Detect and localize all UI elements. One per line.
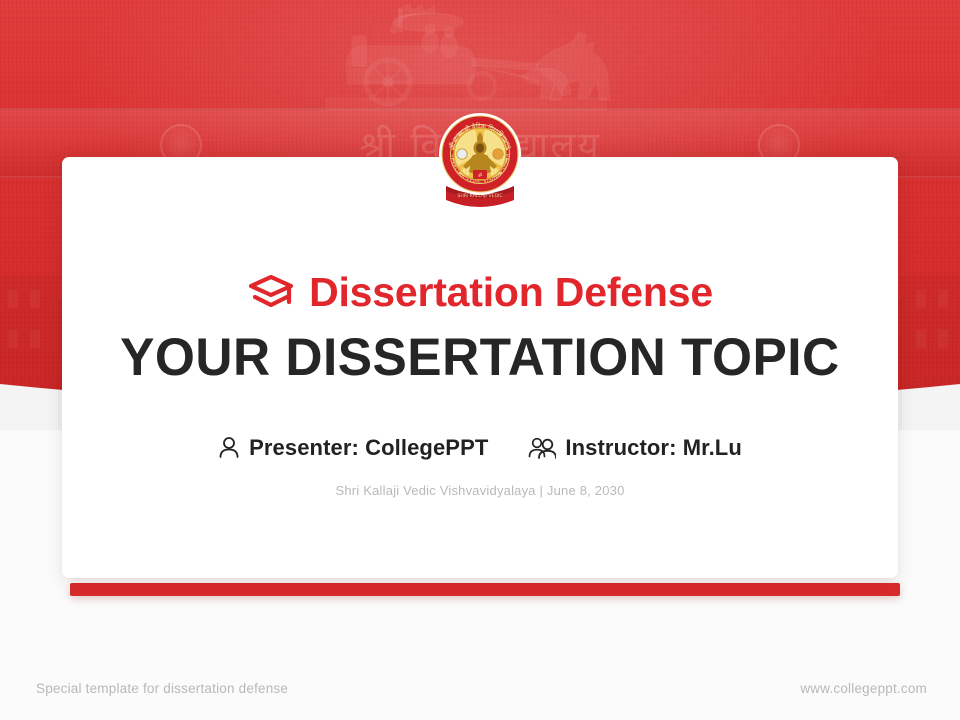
presenter-item: Presenter: CollegePPT [218, 435, 488, 461]
people-icon [528, 436, 556, 460]
instructor-item: Instructor: Mr.Lu [528, 435, 741, 461]
title-card-content: Dissertation Defense YOUR DISSERTATION T… [62, 157, 898, 578]
presenter-label: Presenter: CollegePPT [249, 435, 488, 461]
page-title: YOUR DISSERTATION TOPIC [120, 330, 840, 386]
eyebrow-label: Dissertation Defense [309, 272, 713, 313]
graduation-cap-icon [247, 272, 295, 312]
card-accent-bar [70, 583, 900, 596]
affiliation-and-date: Shri Kallaji Vedic Vishvavidyalaya | Jun… [336, 483, 625, 498]
university-emblem-icon: SHRI KALLAJI VEDIC श्री कल्लाजी वैदिक वि… [432, 110, 528, 210]
person-icon [218, 436, 240, 460]
footer-left-text: Special template for dissertation defens… [36, 681, 288, 696]
footer-right-url[interactable]: www.collegeppt.com [800, 681, 927, 696]
eyebrow-row: Dissertation Defense [247, 267, 713, 317]
people-row: Presenter: CollegePPT Instructor: Mr.Lu [218, 435, 742, 461]
slide-canvas: श्री विश्वविद्यालय [0, 0, 960, 720]
chariot-sculpture-icon [286, 2, 686, 122]
svg-text:ॐ: ॐ [478, 172, 483, 179]
instructor-label: Instructor: Mr.Lu [565, 435, 741, 461]
